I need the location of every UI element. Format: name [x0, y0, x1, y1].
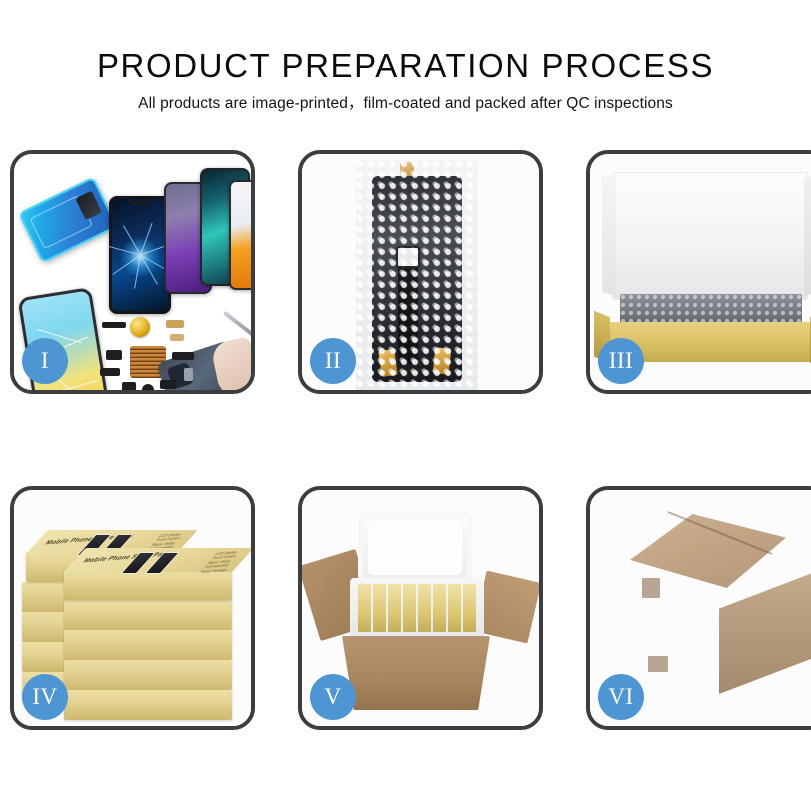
gold-box-item: [373, 584, 386, 632]
step-panel-2: II: [298, 150, 543, 394]
small-part: [170, 334, 184, 341]
gold-box-item: [403, 584, 416, 632]
carton-body: [342, 636, 490, 710]
steps-grid: I II: [10, 150, 801, 730]
step-badge-5: V: [310, 674, 356, 720]
box-lid-face: Mobile Phone Spare Parts LCD Display Tou…: [64, 548, 251, 572]
step-badge-3: III: [598, 338, 644, 384]
gold-component: [130, 317, 150, 337]
white-box-lid: [612, 172, 808, 300]
page-title: PRODUCT PREPARATION PROCESS: [0, 46, 811, 86]
small-part: [166, 320, 184, 328]
gold-box-item: [463, 584, 476, 632]
step-panel-6: VI: [586, 486, 811, 730]
step-badge-2: II: [310, 338, 356, 384]
phone-orange: [229, 180, 251, 290]
step-panel-5: V: [298, 486, 543, 730]
glass-notch: [129, 201, 151, 205]
box-spec-text: LCD Display Touch Screen Black / White F…: [199, 550, 243, 574]
carton-right-face: [719, 572, 811, 694]
step-panel-3: III: [586, 150, 811, 394]
gold-boxes-inside: [358, 584, 476, 632]
stacked-box: [64, 690, 232, 720]
foam-lid: [358, 512, 472, 584]
stacked-box: [64, 660, 232, 690]
small-part: [102, 322, 126, 328]
gold-box-item: [433, 584, 446, 632]
shipping-carton: [602, 514, 811, 698]
small-part: [160, 380, 176, 389]
step-badge-4: IV: [22, 674, 68, 720]
product-preparation-infographic: PRODUCT PREPARATION PROCESS All products…: [0, 0, 811, 811]
tempered-glass-panel: [109, 196, 171, 314]
stacked-box: [64, 630, 232, 660]
stacked-box: [64, 600, 232, 630]
header: PRODUCT PREPARATION PROCESS All products…: [0, 0, 811, 114]
carton-tape-patch: [648, 656, 668, 672]
small-part: [172, 352, 194, 360]
small-part: [106, 350, 122, 360]
gold-box-item: [358, 584, 371, 632]
gold-box-item: [418, 584, 431, 632]
page-subtitle: All products are image-printed，film-coat…: [0, 94, 811, 114]
small-part: [122, 382, 136, 390]
small-part: [142, 384, 154, 390]
step-badge-1: I: [22, 338, 68, 384]
step-panel-1: I: [10, 150, 255, 394]
step-panel-4: Mobile Phone Spare Parts LCD Display Tou…: [10, 486, 255, 730]
small-part: [184, 368, 193, 381]
small-part: [100, 368, 120, 376]
step-badge-6: VI: [598, 674, 644, 720]
carton-tape-patch: [642, 578, 660, 598]
gold-box-item: [388, 584, 401, 632]
gold-box-item: [448, 584, 461, 632]
bubble-texture-highlights: [356, 160, 478, 390]
bubble-wrap-pouch: [356, 160, 478, 390]
stacked-box-printed-front: Mobile Phone Spare Parts LCD Display Tou…: [64, 570, 232, 600]
